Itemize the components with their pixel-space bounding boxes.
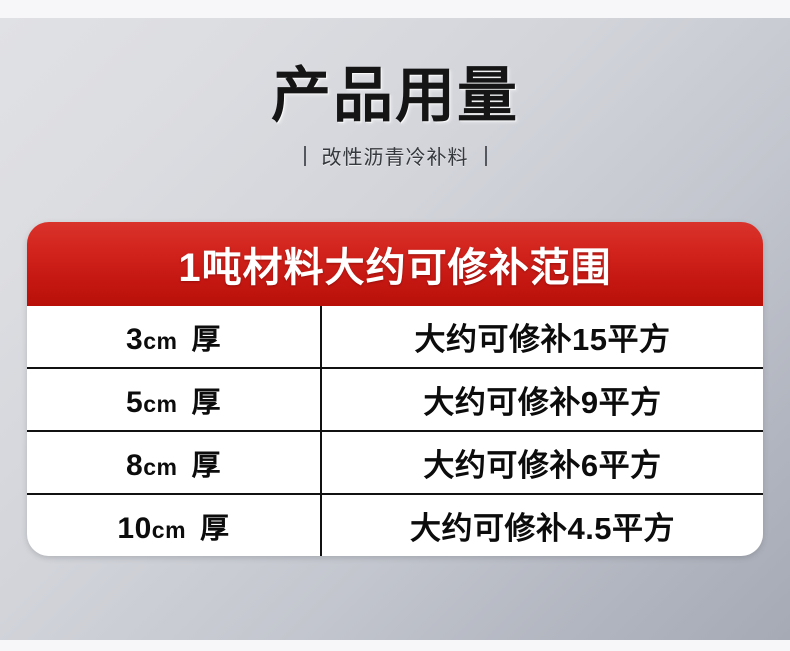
coverage-value: 大约可修补4.5平方 — [410, 503, 675, 548]
page-subtitle: 改性沥青冷补料 — [322, 141, 469, 170]
thickness-number: 3 — [126, 323, 143, 356]
thickness-value: 8cm厚 — [126, 442, 221, 484]
thickness-cell: 3cm厚 — [27, 306, 322, 367]
subtitle-row: 改性沥青冷补料 — [0, 141, 790, 170]
thickness-value: 5cm厚 — [126, 379, 221, 421]
coverage-table-body: 3cm厚 大约可修补15平方 5cm厚 大约可修补9平方 8cm厚 — [27, 306, 763, 556]
coverage-value: 大约可修补6平方 — [423, 440, 661, 485]
thickness-number: 5 — [126, 386, 143, 419]
coverage-table-header-label: 1吨材料大约可修补范围 — [178, 235, 611, 293]
thickness-unit: cm — [143, 328, 177, 354]
thickness-word: 厚 — [191, 387, 221, 419]
table-row: 5cm厚 大约可修补9平方 — [27, 369, 763, 432]
thickness-value: 3cm厚 — [126, 316, 221, 358]
coverage-cell: 大约可修补9平方 — [322, 369, 763, 430]
thickness-number: 10 — [117, 512, 151, 545]
table-row: 10cm厚 大约可修补4.5平方 — [27, 495, 763, 556]
subtitle-separator-right-icon — [485, 146, 487, 166]
product-usage-poster: 产品用量 改性沥青冷补料 1吨材料大约可修补范围 3cm厚 大约可修补15平方 … — [0, 0, 790, 651]
coverage-cell: 大约可修补15平方 — [322, 306, 763, 367]
coverage-table: 1吨材料大约可修补范围 3cm厚 大约可修补15平方 5cm厚 大约可修补9平方 — [27, 222, 763, 556]
table-row: 3cm厚 大约可修补15平方 — [27, 306, 763, 369]
subtitle-separator-left-icon — [304, 146, 306, 166]
thickness-word: 厚 — [200, 513, 230, 545]
coverage-value: 大约可修补9平方 — [423, 377, 661, 422]
coverage-table-header: 1吨材料大约可修补范围 — [27, 222, 763, 306]
thickness-cell: 10cm厚 — [27, 495, 322, 556]
thickness-number: 8 — [126, 449, 143, 482]
coverage-cell: 大约可修补6平方 — [322, 432, 763, 493]
title-block: 产品用量 改性沥青冷补料 — [0, 62, 790, 170]
thickness-unit: cm — [143, 454, 177, 480]
page-title: 产品用量 — [0, 62, 790, 129]
thickness-unit: cm — [143, 391, 177, 417]
thickness-word: 厚 — [191, 324, 221, 356]
thickness-unit: cm — [152, 517, 186, 543]
thickness-word: 厚 — [191, 450, 221, 482]
thickness-value: 10cm厚 — [117, 505, 229, 547]
thickness-cell: 5cm厚 — [27, 369, 322, 430]
thickness-cell: 8cm厚 — [27, 432, 322, 493]
coverage-value: 大约可修补15平方 — [415, 314, 671, 359]
coverage-cell: 大约可修补4.5平方 — [322, 495, 763, 556]
table-row: 8cm厚 大约可修补6平方 — [27, 432, 763, 495]
